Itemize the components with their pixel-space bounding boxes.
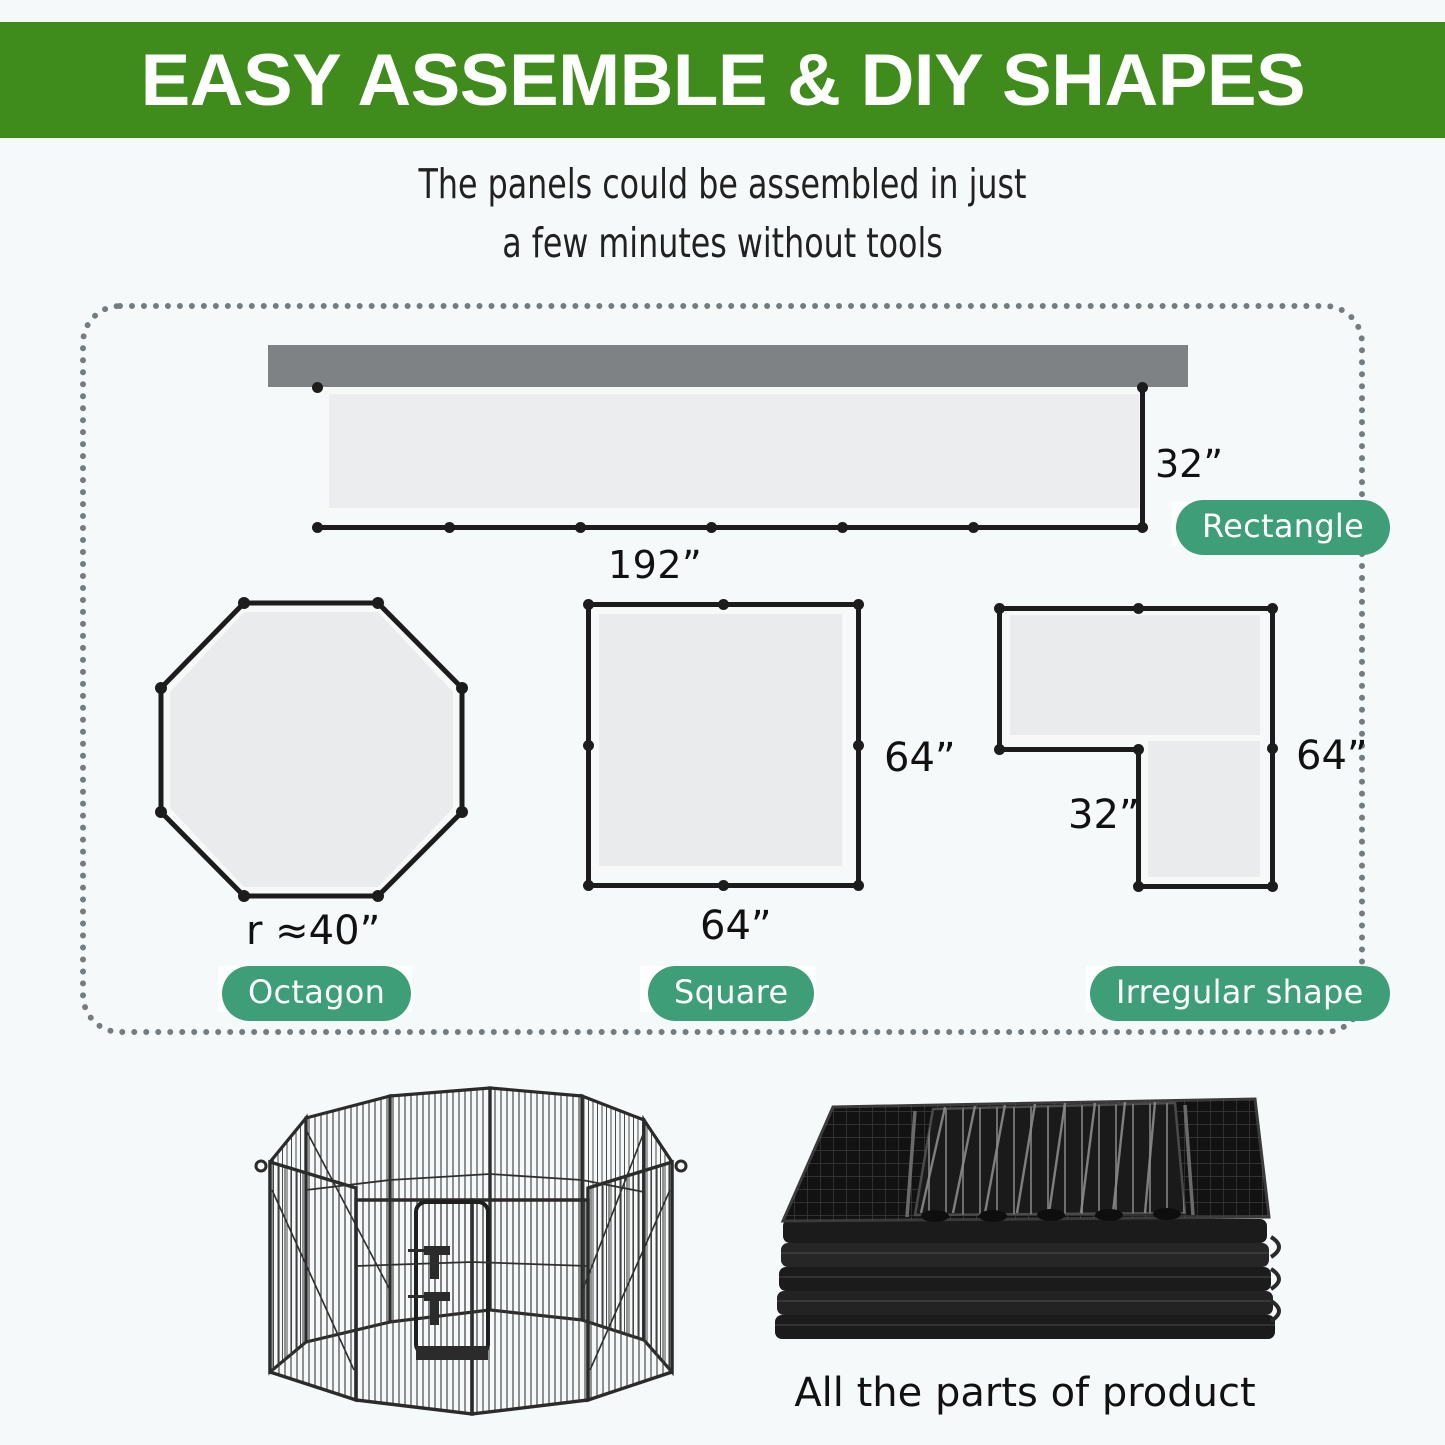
square-node <box>718 599 729 610</box>
rectangle-node <box>1137 522 1148 533</box>
rectangle-right-edge <box>1140 387 1145 528</box>
badge-square[interactable]: Square <box>648 966 814 1021</box>
rectangle-node <box>444 522 455 533</box>
folded-stack-layers <box>775 1219 1275 1339</box>
rectangle-top-bar <box>268 345 1188 387</box>
subtitle-line-2: a few minutes without tools <box>101 214 1344 273</box>
rectangle-node <box>312 382 323 393</box>
playpen-gate-door <box>416 1202 488 1360</box>
irregular-node <box>1267 743 1278 754</box>
rectangle-node <box>312 522 323 533</box>
square-width-label: 64” <box>700 903 772 949</box>
shape-rectangle: 192” 32” <box>268 345 1368 595</box>
subtitle-block: The panels could be assembled in just a … <box>0 155 1445 274</box>
irregular-left-edge <box>997 606 1002 752</box>
rectangle-node <box>706 522 717 533</box>
irregular-node <box>1267 881 1278 892</box>
rectangle-width-label: 192” <box>608 543 702 587</box>
square-node <box>583 740 594 751</box>
irregular-node <box>994 603 1005 614</box>
square-node <box>853 599 864 610</box>
playpen-panel-front-left <box>270 1162 356 1400</box>
rectangle-bottom-edge <box>315 525 1145 530</box>
rectangle-height-label: 32” <box>1155 442 1223 486</box>
irregular-fill-top <box>1004 609 1266 741</box>
badge-irregular-shape[interactable]: Irregular shape <box>1090 966 1390 1021</box>
header-banner: EASY ASSEMBLE & DIY SHAPES <box>0 22 1445 138</box>
square-fill <box>593 608 848 872</box>
square-node <box>853 880 864 891</box>
irregular-node <box>1133 744 1144 755</box>
irregular-notch-label: 32” <box>1068 792 1140 838</box>
shape-octagon <box>150 590 500 920</box>
square-node <box>718 880 729 891</box>
rectangle-node <box>968 522 979 533</box>
badge-octagon[interactable]: Octagon <box>222 966 411 1021</box>
subtitle-line-1: The panels could be assembled in just <box>101 155 1344 214</box>
product-photo-folded-stack <box>755 1085 1295 1385</box>
square-node <box>583 880 594 891</box>
irregular-node <box>1267 603 1278 614</box>
folded-stack-caption: All the parts of product <box>755 1370 1295 1416</box>
shape-irregular <box>990 595 1300 905</box>
irregular-node <box>1133 881 1144 892</box>
irregular-bottom-edge <box>1136 884 1275 889</box>
square-height-label: 64” <box>884 735 956 781</box>
playpen-panel-front-right <box>588 1162 672 1400</box>
irregular-node <box>994 744 1005 755</box>
octagon-svg <box>150 590 500 920</box>
rectangle-fill <box>324 389 1144 513</box>
badge-rectangle[interactable]: Rectangle <box>1176 500 1390 555</box>
product-photo-assembled-playpen <box>240 1070 690 1425</box>
irregular-fill-leg <box>1142 735 1266 883</box>
irregular-node <box>1133 603 1144 614</box>
rectangle-node <box>837 522 848 533</box>
octagon-radius-label: r ≈40” <box>246 908 380 954</box>
irregular-notch-horizontal-edge <box>997 747 1141 752</box>
square-node <box>853 740 864 751</box>
irregular-height-label: 64” <box>1296 733 1368 779</box>
page-title: EASY ASSEMBLE & DIY SHAPES <box>140 44 1305 117</box>
shape-square <box>580 595 890 905</box>
rectangle-node <box>575 522 586 533</box>
square-node <box>583 599 594 610</box>
rectangle-node <box>1137 382 1148 393</box>
